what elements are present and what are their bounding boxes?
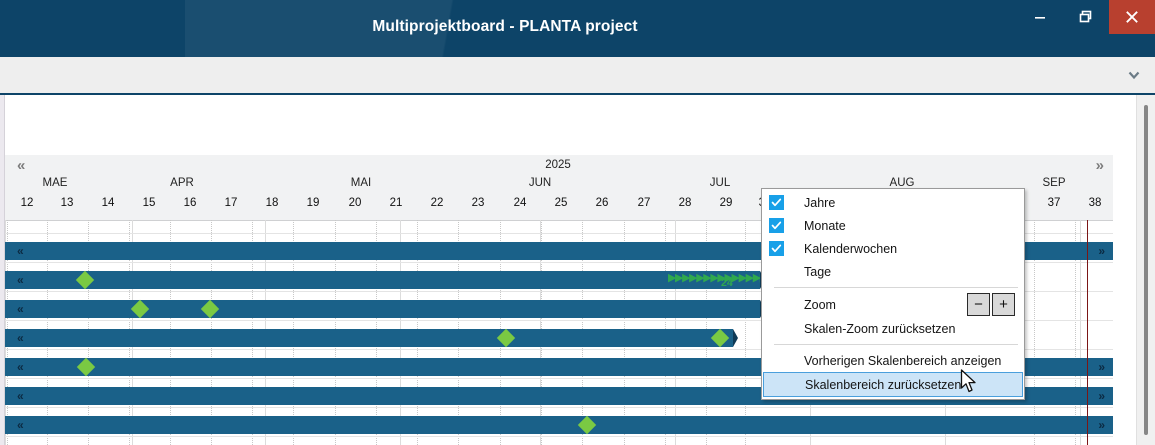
- bar-overflow-right-icon[interactable]: »: [1098, 359, 1103, 375]
- scale-month-mae: MAE: [43, 177, 68, 189]
- restore-button[interactable]: [1063, 0, 1109, 34]
- scale-year-label: 2025: [545, 159, 571, 171]
- grid-hline: [5, 407, 1113, 408]
- menu-item-jahre[interactable]: Jahre: [762, 191, 1024, 214]
- gantt-bar[interactable]: «: [5, 300, 760, 318]
- scale-scroll-left[interactable]: «: [17, 157, 24, 174]
- menu-item-label: Skalen-Zoom zurücksetzen: [762, 322, 955, 336]
- menu-item-skalenbereich-zur-cksetzen[interactable]: Skalenbereich zurücksetzen: [763, 372, 1023, 397]
- scale-week-15: 15: [143, 197, 156, 209]
- menu-item-label: Skalenbereich zurücksetzen: [764, 378, 961, 392]
- checkmark-icon[interactable]: [769, 241, 784, 256]
- scale-week-29: 29: [720, 197, 733, 209]
- scale-week-16: 16: [184, 197, 197, 209]
- bar-overflow-left-icon[interactable]: «: [17, 272, 22, 288]
- menu-item-label: Tage: [762, 265, 831, 279]
- scale-week-27: 27: [638, 197, 651, 209]
- menu-separator: [774, 287, 1018, 288]
- scale-week-23: 23: [472, 197, 485, 209]
- scale-week-26: 26: [596, 197, 609, 209]
- scale-week-12: 12: [21, 197, 34, 209]
- minimize-icon: [1033, 10, 1047, 24]
- scale-week-19: 19: [307, 197, 320, 209]
- gantt-bar[interactable]: «: [5, 271, 760, 289]
- scale-month-mai: MAI: [351, 177, 371, 189]
- scale-week-22: 22: [431, 197, 444, 209]
- scale-week-21: 21: [390, 197, 403, 209]
- scale-scroll-right[interactable]: »: [1096, 157, 1103, 174]
- bar-overflow-right-icon[interactable]: »: [1098, 243, 1103, 259]
- close-icon: [1125, 10, 1139, 24]
- progress-indicator: ▶▶▶▶▶▶▶▶▶▶▶▶▶▶▶▶▶▶▶▶▶▶▶▶▶▶▶▶▶▶▶▶▶▶▶▶▶▶▶▶: [668, 272, 760, 283]
- menu-item-vorherigen-skalenbereich-anzeigen[interactable]: Vorherigen Skalenbereich anzeigen: [762, 349, 1024, 372]
- menu-item-label: Vorherigen Skalenbereich anzeigen: [762, 354, 1001, 368]
- chevron-down-icon[interactable]: [1127, 68, 1141, 82]
- scale-month-jun: JUN: [529, 177, 551, 189]
- scale-week-28: 28: [679, 197, 692, 209]
- menu-item-skalen-zoom-zur-cksetzen[interactable]: Skalen-Zoom zurücksetzen: [762, 317, 1024, 340]
- close-button[interactable]: [1109, 0, 1155, 34]
- bar-overflow-right-icon[interactable]: »: [1098, 388, 1103, 404]
- bar-end-cap: [733, 329, 738, 347]
- scale-month-jul: JUL: [710, 177, 730, 189]
- zoom-button-group: −+: [967, 293, 1015, 316]
- menu-item-tage[interactable]: Tage: [762, 260, 1024, 283]
- scale-month-apr: APR: [170, 177, 194, 189]
- bar-overflow-left-icon[interactable]: «: [17, 359, 22, 375]
- progress-label: 24: [721, 277, 733, 289]
- scale-context-menu[interactable]: JahreMonateKalenderwochenTageZoom−+Skale…: [761, 188, 1025, 400]
- vertical-scrollbar-thumb[interactable]: [1144, 105, 1148, 435]
- window-controls: [1017, 0, 1155, 34]
- menu-separator: [774, 344, 1018, 345]
- scale-week-20: 20: [349, 197, 362, 209]
- scale-week-18: 18: [266, 197, 279, 209]
- menu-item-kalenderwochen[interactable]: Kalenderwochen: [762, 237, 1024, 260]
- menu-item-zoom[interactable]: Zoom−+: [762, 292, 1024, 317]
- zoom-in-button[interactable]: +: [992, 293, 1015, 316]
- menu-item-label: Zoom: [762, 298, 836, 312]
- scale-week-38: 38: [1089, 197, 1102, 209]
- scale-week-17: 17: [225, 197, 238, 209]
- scale-week-37: 37: [1048, 197, 1061, 209]
- scale-month-sep: SEP: [1042, 177, 1065, 189]
- scale-week-24: 24: [514, 197, 527, 209]
- today-marker-line: [1087, 220, 1088, 445]
- application-window: Multiprojektboard - PLANTA project: [0, 0, 1155, 445]
- restore-icon: [1078, 9, 1094, 25]
- bar-overflow-left-icon[interactable]: «: [17, 243, 22, 259]
- bar-overflow-left-icon[interactable]: «: [17, 330, 22, 346]
- gantt-bar[interactable]: «: [5, 329, 733, 347]
- bar-overflow-left-icon[interactable]: «: [17, 301, 22, 317]
- gantt-bar[interactable]: «»: [5, 416, 1113, 434]
- checkmark-icon[interactable]: [769, 218, 784, 233]
- scale-week-25: 25: [555, 197, 568, 209]
- scale-week-13: 13: [61, 197, 74, 209]
- scale-week-14: 14: [102, 197, 115, 209]
- checkmark-icon[interactable]: [769, 195, 784, 210]
- title-bar: Multiprojektboard - PLANTA project: [0, 0, 1155, 57]
- window-title: Multiprojektboard - PLANTA project: [0, 18, 1010, 36]
- grid-hline: [5, 436, 1113, 437]
- bar-overflow-right-icon[interactable]: »: [1098, 417, 1103, 433]
- menu-item-monate[interactable]: Monate: [762, 214, 1024, 237]
- zoom-out-button[interactable]: −: [967, 293, 990, 316]
- minimize-button[interactable]: [1017, 0, 1063, 34]
- bar-overflow-left-icon[interactable]: «: [17, 417, 22, 433]
- vertical-scrollbar-track[interactable]: [1136, 95, 1155, 445]
- toolbar: [0, 57, 1155, 95]
- bar-overflow-left-icon[interactable]: «: [17, 388, 22, 404]
